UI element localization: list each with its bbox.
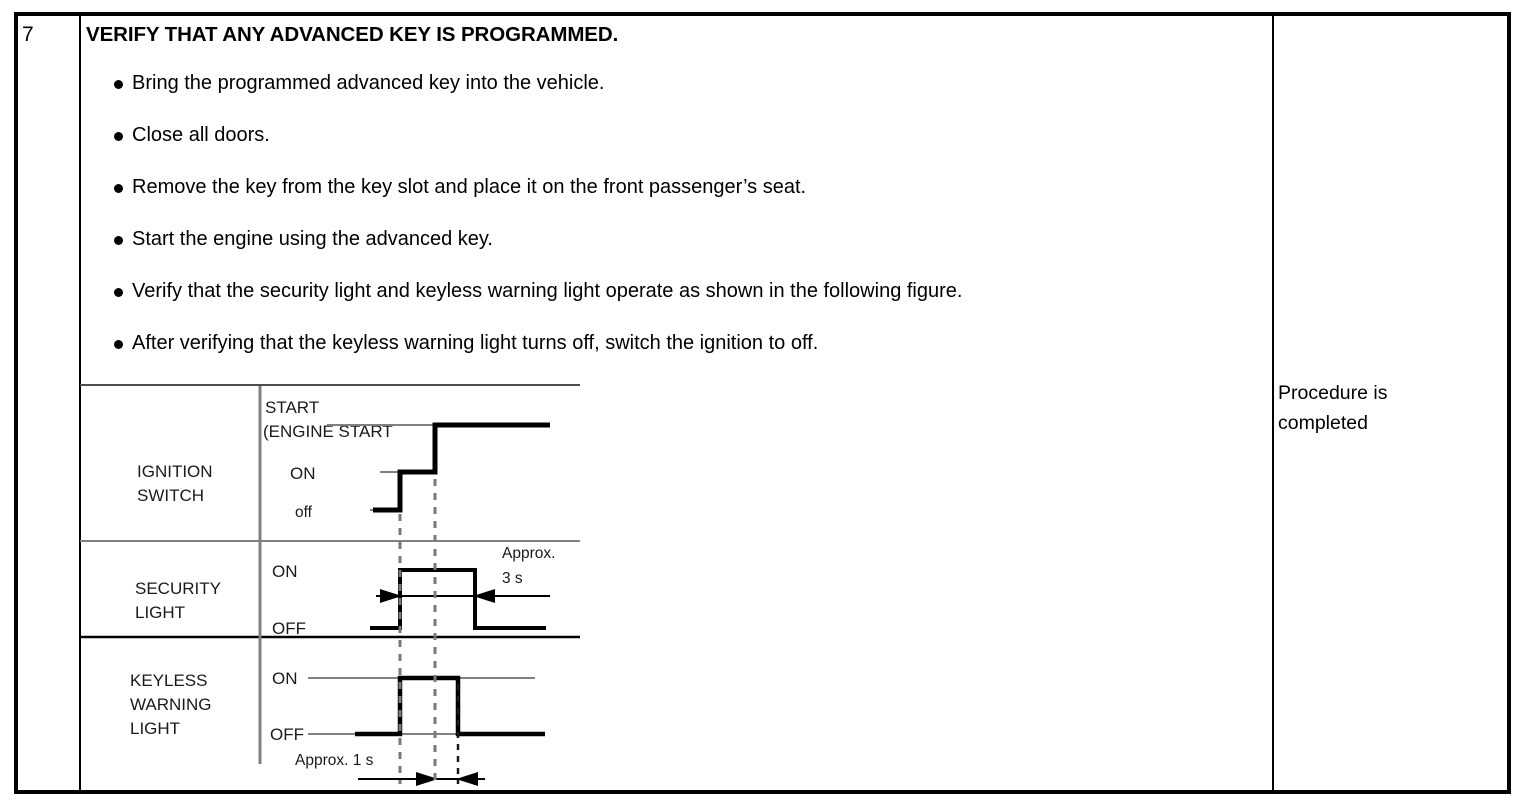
keyless-light-label-line3: LIGHT [130, 719, 180, 738]
list-item: After verifying that the keyless warning… [86, 333, 1246, 353]
bullet-dot-icon [114, 80, 123, 89]
bullet-dot-icon [114, 236, 123, 245]
list-item: Verify that the security light and keyle… [86, 281, 1246, 301]
instruction-list: Bring the programmed advanced key into t… [86, 73, 1246, 353]
bullet-dot-icon [114, 340, 123, 349]
list-item: Close all doors. [86, 125, 1246, 145]
keyless-annotation: Approx. 1 s [295, 752, 374, 769]
step-content: VERIFY THAT ANY ADVANCED KEY IS PROGRAMM… [86, 24, 1246, 359]
ignition-level-start: START [265, 398, 319, 417]
bullet-dot-icon [114, 184, 123, 193]
ignition-switch-label-line2: SWITCH [137, 486, 204, 505]
result-column-divider [1272, 16, 1274, 790]
security-annotation-line2: 3 s [502, 570, 523, 587]
security-annotation-line1: Approx. [502, 545, 555, 562]
keyless-level-on: ON [272, 669, 298, 688]
keyless-light-label-line2: WARNING [130, 695, 212, 714]
keyless-level-off: OFF [270, 725, 304, 744]
ignition-level-off: off [295, 504, 313, 521]
document-page: 7 VERIFY THAT ANY ADVANCED KEY IS PROGRA… [0, 0, 1526, 806]
list-item-label: After verifying that the keyless warning… [132, 332, 818, 354]
step-number: 7 [22, 24, 34, 45]
ignition-switch-label-line1: IGNITION [137, 462, 213, 481]
list-item-label: Verify that the security light and keyle… [132, 280, 962, 302]
keyless-light-label-line1: KEYLESS [130, 671, 208, 690]
keyless-warning-light-waveform [355, 678, 545, 734]
bullet-dot-icon [114, 288, 123, 297]
list-item-label: Start the engine using the advanced key. [132, 228, 493, 250]
result-line-1: Procedure is [1278, 378, 1488, 408]
security-light-label-line2: LIGHT [135, 603, 185, 622]
timing-diagram: IGNITION SWITCH START (ENGINE START ON o… [80, 384, 600, 794]
security-level-off: OFF [272, 619, 306, 638]
ignition-level-on: ON [290, 464, 316, 483]
step-title: VERIFY THAT ANY ADVANCED KEY IS PROGRAMM… [86, 24, 1246, 47]
list-item-label: Close all doors. [132, 124, 270, 146]
list-item-label: Remove the key from the key slot and pla… [132, 176, 806, 198]
result-status: Procedure is completed [1278, 378, 1488, 438]
result-line-2: completed [1278, 408, 1488, 438]
list-item: Remove the key from the key slot and pla… [86, 177, 1246, 197]
bullet-dot-icon [114, 132, 123, 141]
security-level-on: ON [272, 562, 298, 581]
list-item: Start the engine using the advanced key. [86, 229, 1246, 249]
list-item-label: Bring the programmed advanced key into t… [132, 72, 605, 94]
list-item: Bring the programmed advanced key into t… [86, 73, 1246, 93]
ignition-switch-waveform [373, 425, 550, 510]
security-light-label-line1: SECURITY [135, 579, 221, 598]
keyless-dimension-arrow-right [456, 772, 478, 786]
